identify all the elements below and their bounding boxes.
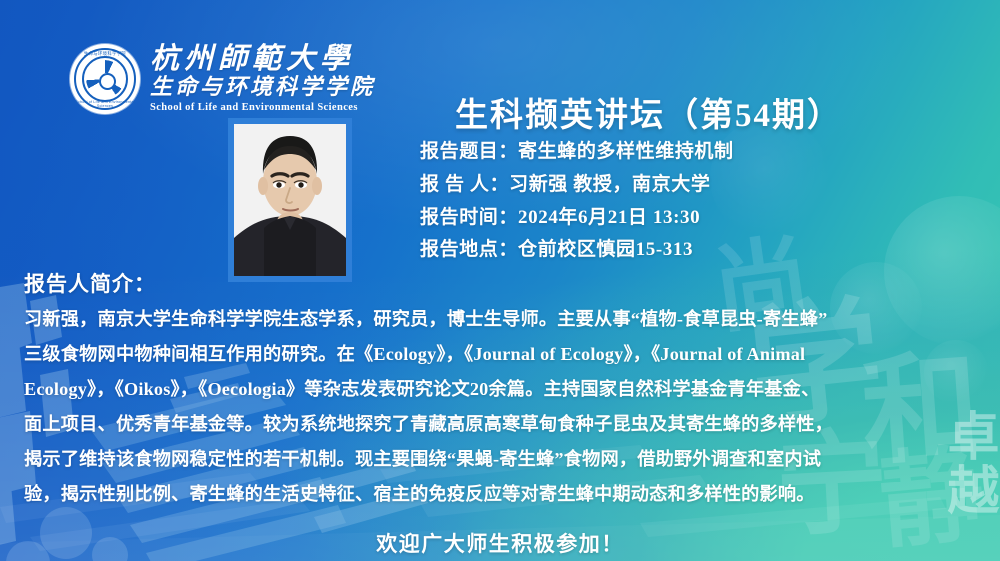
info-label: 报 告 人： xyxy=(420,173,509,197)
info-row-topic: 报告题目：寄生蜂的多样性维持机制 xyxy=(420,140,734,164)
info-label: 报告时间： xyxy=(420,206,518,230)
info-row-time: 报告时间：2024年6月21日 13:30 xyxy=(420,206,734,230)
college-name-cn: 生命与环境科学学院 xyxy=(150,75,375,99)
speaker-portrait xyxy=(228,118,352,282)
info-label: 报告地点： xyxy=(420,238,518,262)
seminar-info-list: 报告题目：寄生蜂的多样性维持机制 报 告 人：习新强 教授，南京大学 报告时间：… xyxy=(420,140,734,262)
emblem-outer-text: School of Life and Environmental Science… xyxy=(70,100,140,108)
bio-body: 习新强，南京大学生命科学学院生态学系，研究员，博士生导师。主要从事“植物-食草昆… xyxy=(24,302,984,512)
university-name-cn: 杭州師範大學 xyxy=(150,44,375,74)
page-title: 生科撷英讲坛（第54期） xyxy=(455,88,842,136)
info-value: 2024年6月21日 13:30 xyxy=(518,207,700,228)
university-logo: 生命与环境科学学院 School of Life and Environment… xyxy=(70,44,375,114)
portrait-illustration xyxy=(228,118,352,282)
bio-heading: 报告人简介： xyxy=(24,268,156,298)
college-name-en: School of Life and Environmental Science… xyxy=(150,102,375,115)
bio-line: 面上项目、优秀青年基金等。较为系统地探究了青藏高原高寒草甸食种子昆虫及其寄生蜂的… xyxy=(24,407,984,442)
info-value: 仓前校区慎园15-313 xyxy=(518,239,693,260)
bio-line: 习新强，南京大学生命科学学院生态学系，研究员，博士生导师。主要从事“植物-食草昆… xyxy=(24,302,984,337)
bio-line: 验，揭示性别比例、寄生蜂的生活史特征、宿主的免疫反应等对寄生蜂中期动态和多样性的… xyxy=(24,477,984,512)
hznu-emblem-icon: 生命与环境科学学院 School of Life and Environment… xyxy=(70,44,140,114)
welcome-message: 欢迎广大师生积极参加！ xyxy=(0,528,1000,558)
info-value: 习新强 教授，南京大学 xyxy=(509,174,710,195)
info-label: 报告题目： xyxy=(420,140,518,164)
info-row-speaker: 报 告 人：习新强 教授，南京大学 xyxy=(420,173,734,197)
info-row-location: 报告地点：仓前校区慎园15-313 xyxy=(420,238,734,262)
bio-line: 三级食物网中物种间相互作用的研究。在《Ecology》，《Journal of … xyxy=(24,337,984,372)
seminar-poster: 尚 学 和 宁 静 xyxy=(0,0,1000,561)
bio-line: Ecology》，《Oikos》，《Oecologia》等杂志发表研究论文20余… xyxy=(24,372,984,407)
bio-line: 揭示了维持该食物网稳定性的若干机制。现主要围绕“果蝇-寄生蜂”食物网，借助野外调… xyxy=(24,442,984,477)
info-value: 寄生蜂的多样性维持机制 xyxy=(518,141,734,162)
